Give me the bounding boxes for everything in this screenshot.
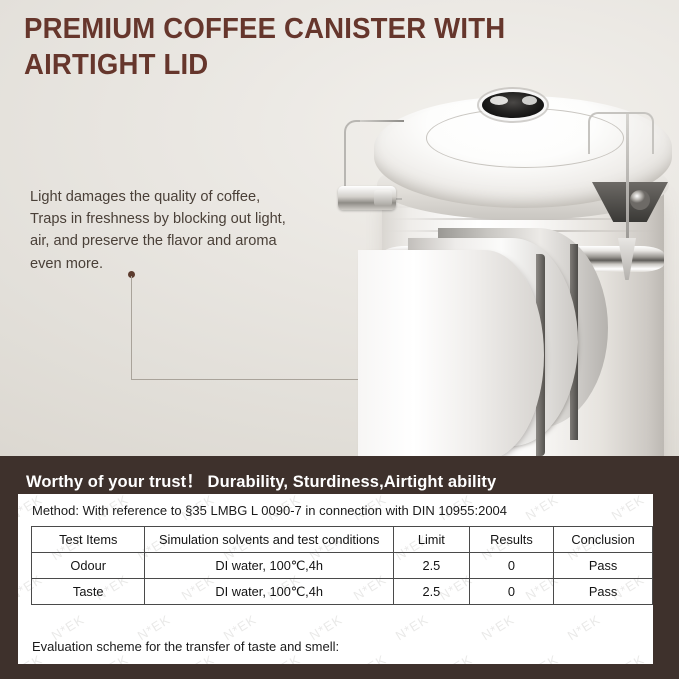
test-report-sheet: N*EKN*EKN*EKN*EKN*EKN*EKN*EKN*EKN*EKN*EK… [18, 494, 653, 664]
coffee-canister-image [330, 78, 679, 456]
feature-callout-text: Light damages the quality of coffee, Tra… [30, 186, 300, 275]
watermark-text: N*EK [437, 652, 475, 664]
table-cell: 2.5 [393, 579, 469, 605]
watermark-text: N*EK [351, 652, 389, 664]
table-cell: Pass [554, 553, 653, 579]
table-row: OdourDI water, 100℃,4h2.50Pass [32, 553, 653, 579]
table-cell: DI water, 100℃,4h [145, 579, 394, 605]
watermark-text: N*EK [523, 494, 561, 523]
watermark-text: N*EK [609, 652, 647, 664]
right-clamp-stem [626, 114, 629, 244]
test-results-table: Test ItemsSimulation solvents and test c… [31, 526, 653, 605]
table-cell: Taste [32, 579, 145, 605]
wall-layer-outer [358, 250, 544, 456]
watermark-text: N*EK [651, 612, 653, 644]
table-header-cell: Conclusion [554, 527, 653, 553]
left-clamp-pin [374, 190, 392, 206]
table-header-row: Test ItemsSimulation solvents and test c… [32, 527, 653, 553]
table-row: TasteDI water, 100℃,4h2.50Pass [32, 579, 653, 605]
table-cell: Odour [32, 553, 145, 579]
table-header-cell: Limit [393, 527, 469, 553]
table-header-cell: Results [469, 527, 553, 553]
watermark-text: N*EK [479, 612, 517, 644]
leader-line-vertical [131, 276, 132, 380]
trust-panel: Worthy of your trust！ Durability, Sturdi… [0, 456, 679, 679]
evaluation-scheme-line: Evaluation scheme for the transfer of ta… [32, 639, 339, 654]
watermark-text: N*EK [609, 494, 647, 523]
watermark-text: N*EK [393, 612, 431, 644]
hero-section: PREMIUM COFFEE CANISTER WITH AIRTIGHT LI… [0, 0, 679, 456]
table-header-cell: Test Items [32, 527, 145, 553]
table-cell: 2.5 [393, 553, 469, 579]
test-method-line: Method: With reference to §35 LMBG L 009… [32, 503, 507, 518]
right-clamp-wire [588, 112, 654, 154]
trust-panel-heading: Worthy of your trust！ Durability, Sturdi… [26, 468, 496, 492]
table-cell: Pass [554, 579, 653, 605]
watermark-text: N*EK [565, 612, 603, 644]
table-cell: DI water, 100℃,4h [145, 553, 394, 579]
table-header-cell: Simulation solvents and test conditions [145, 527, 394, 553]
page-title: PREMIUM COFFEE CANISTER WITH AIRTIGHT LI… [24, 12, 594, 84]
table-cell: 0 [469, 553, 553, 579]
co2-valve-icon [482, 92, 544, 118]
watermark-text: N*EK [523, 652, 561, 664]
product-infographic: PREMIUM COFFEE CANISTER WITH AIRTIGHT LI… [0, 0, 679, 679]
table-cell: 0 [469, 579, 553, 605]
valve-highlight-left [490, 96, 508, 105]
valve-highlight-right [522, 96, 537, 105]
right-clamp-ball [630, 190, 650, 210]
